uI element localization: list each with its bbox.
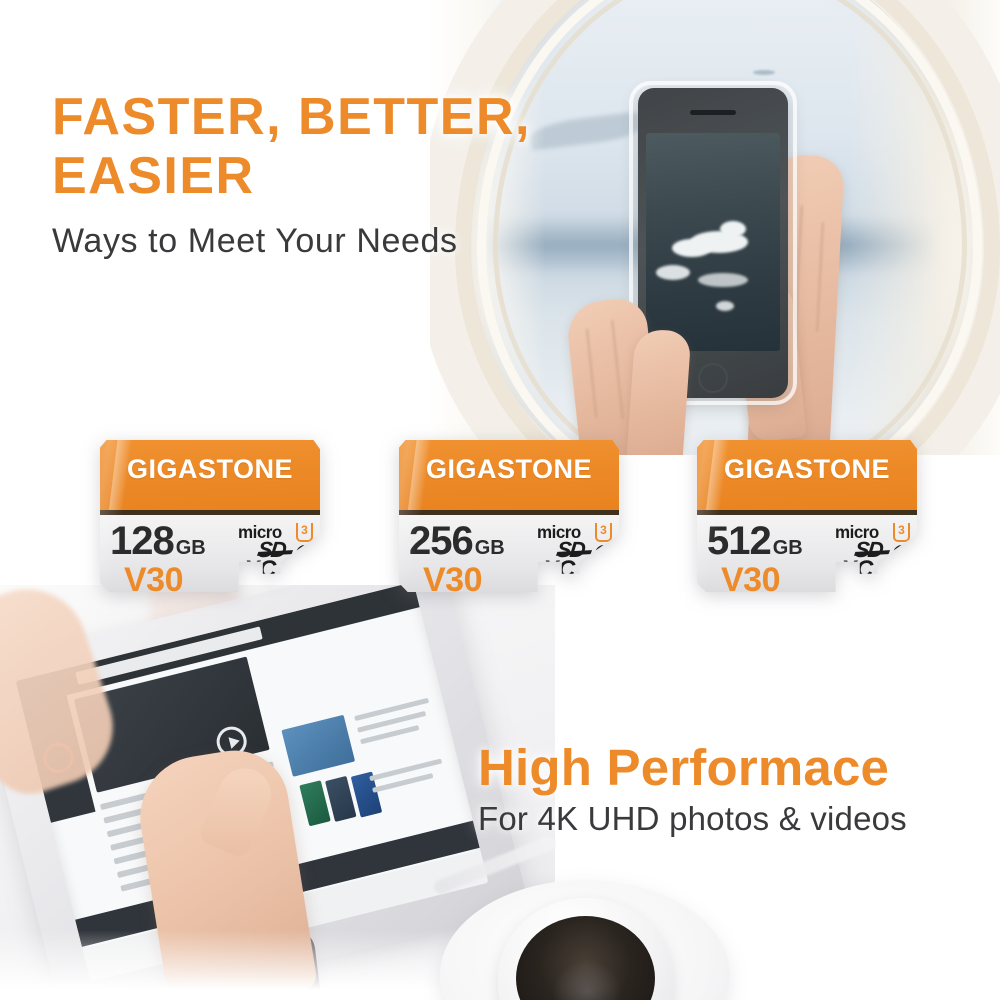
microsdxc-logo: micro SD XC 3 10 I bbox=[835, 523, 913, 592]
logo-xc-text: XC bbox=[244, 556, 275, 584]
card-video-class: V30 bbox=[124, 563, 183, 592]
class10-icon: 10 bbox=[296, 545, 314, 563]
phone-earpiece bbox=[690, 110, 736, 115]
performance-title: High Performace bbox=[478, 738, 978, 797]
card-body: 256 GB V30 micro SD XC 3 10 I bbox=[399, 515, 619, 592]
microsdxc-logo: micro SD XC 3 10 I bbox=[537, 523, 615, 592]
phone-screen-cloud-photo bbox=[646, 133, 780, 351]
card-body: 512 GB V30 micro SD XC 3 10 I bbox=[697, 515, 917, 592]
u3-speed-class-icon: 3 bbox=[893, 523, 910, 542]
memory-card-128gb[interactable]: GIGASTONE 128 GB V30 micro SD XC 3 bbox=[100, 440, 320, 592]
logo-xc-text: XC bbox=[543, 556, 574, 584]
cloud bbox=[672, 239, 712, 257]
card-capacity: 512 GB bbox=[707, 521, 835, 561]
article-thumbnail bbox=[281, 715, 355, 777]
card-capacity-number: 128 bbox=[110, 521, 174, 561]
card-capacity-unit: GB bbox=[773, 538, 803, 558]
phone-home-button bbox=[698, 363, 728, 393]
card-brand-label: GIGASTONE bbox=[697, 454, 917, 485]
product-marketing-image: FASTER, BETTER, EASIER Ways to Meet Your… bbox=[0, 0, 1000, 1000]
cloud bbox=[716, 301, 734, 311]
headline-backdrop bbox=[0, 0, 430, 440]
finger-crease bbox=[816, 222, 825, 332]
uhs-i-icon: I bbox=[895, 565, 909, 587]
card-capacity-unit: GB bbox=[475, 538, 505, 558]
card-capacity: 256 GB bbox=[409, 521, 537, 561]
u3-speed-class-icon: 3 bbox=[595, 523, 612, 542]
memory-card-512gb[interactable]: GIGASTONE 512 GB V30 micro SD XC 3 bbox=[697, 440, 917, 592]
hero-headline-line1: FASTER, BETTER, bbox=[52, 88, 532, 147]
u3-speed-class-icon: 3 bbox=[296, 523, 313, 542]
logo-xc-text: XC bbox=[841, 556, 872, 584]
finger-crease bbox=[611, 320, 624, 420]
hero-headline-line2: EASIER bbox=[52, 147, 532, 206]
card-capacity-number: 512 bbox=[707, 521, 771, 561]
card-body: 128 GB V30 micro SD XC 3 10 I bbox=[100, 515, 320, 592]
memory-card-256gb[interactable]: GIGASTONE 256 GB V30 micro SD XC 3 bbox=[399, 440, 619, 592]
finger-crease bbox=[585, 328, 597, 418]
card-capacity-number: 256 bbox=[409, 521, 473, 561]
card-brand-label: GIGASTONE bbox=[399, 454, 619, 485]
performance-text-backdrop bbox=[555, 585, 1000, 885]
distant-aircraft-speck bbox=[753, 70, 775, 75]
card-video-class: V30 bbox=[423, 563, 482, 592]
card-video-class: V30 bbox=[721, 563, 780, 592]
performance-subtitle: For 4K UHD photos & videos bbox=[478, 800, 998, 838]
uhs-i-icon: I bbox=[298, 565, 312, 587]
hero-subheadline: Ways to Meet Your Needs bbox=[52, 222, 572, 261]
card-capacity-unit: GB bbox=[176, 538, 206, 558]
hero-headline: FASTER, BETTER, EASIER bbox=[52, 88, 532, 207]
cloud bbox=[720, 221, 746, 237]
cloud bbox=[698, 273, 748, 287]
microsdxc-logo: micro SD XC 3 10 I bbox=[238, 523, 316, 592]
photo-bottom-fade bbox=[0, 930, 470, 1000]
cloud bbox=[656, 265, 690, 280]
card-capacity: 128 GB bbox=[110, 521, 238, 561]
class10-icon: 10 bbox=[595, 545, 613, 563]
card-brand-label: GIGASTONE bbox=[100, 454, 320, 485]
uhs-i-icon: I bbox=[597, 565, 611, 587]
class10-icon: 10 bbox=[893, 545, 911, 563]
memory-card-row: GIGASTONE 128 GB V30 micro SD XC 3 bbox=[0, 440, 1000, 600]
left-thumb bbox=[627, 328, 692, 455]
window-frame-right-shade bbox=[850, 0, 1000, 455]
